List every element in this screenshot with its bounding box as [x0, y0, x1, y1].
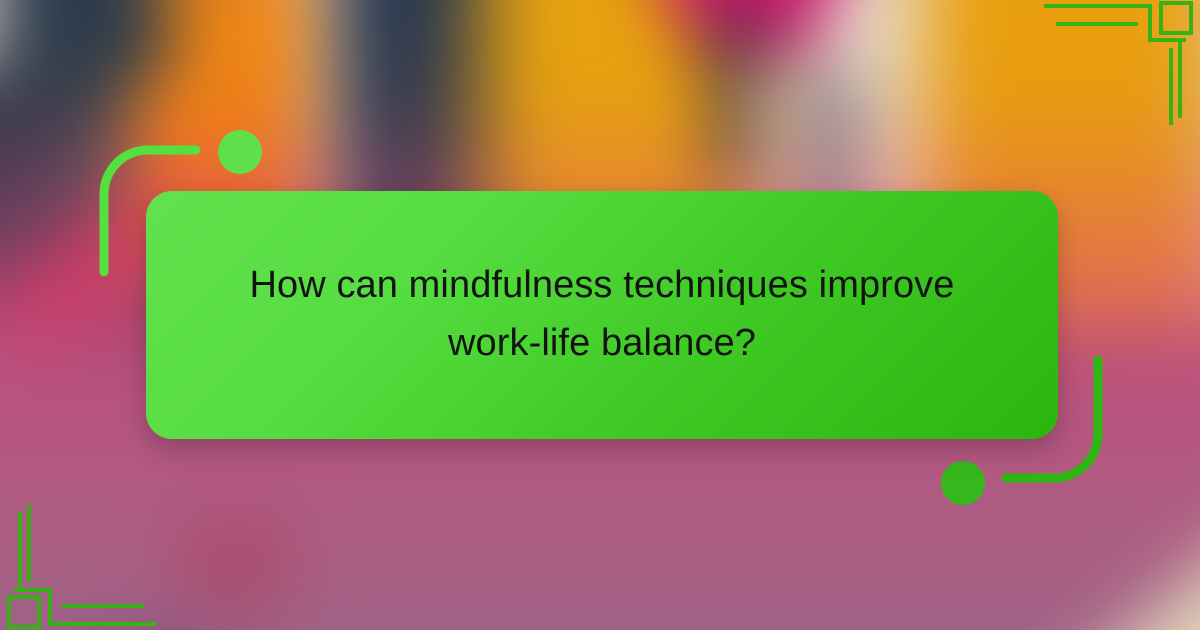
question-text: How can mindfulness techniques improve w… — [204, 257, 1000, 373]
background-purple-blob — [40, 610, 270, 630]
question-card: How can mindfulness techniques improve w… — [146, 191, 1058, 439]
poster-canvas: How can mindfulness techniques improve w… — [0, 0, 1200, 630]
